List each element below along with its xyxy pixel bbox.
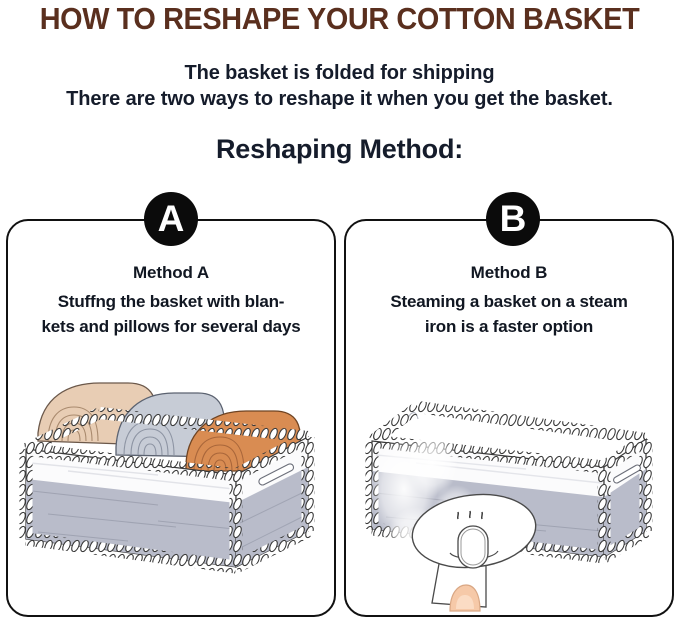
iron-button-inner [461,529,485,565]
section-title: Reshaping Method: [0,134,679,165]
subheading-line-1: The basket is folded for shipping [0,60,679,86]
method-a-description-line-1: Stuffng the basket with blan- [16,289,326,314]
method-b-description-line-1: Steaming a basket on a steam [354,289,664,314]
method-b-heading: Method B [346,263,672,283]
method-b-panel: Method B Steaming a basket on a steam ir… [344,219,674,617]
method-badge-b: B [486,192,540,246]
method-a-panel: Method A Stuffng the basket with blan- k… [6,219,336,617]
method-a-illustration [8,371,334,621]
method-a-description: Stuffng the basket with blan- kets and p… [16,289,326,339]
page-title: HOW TO RESHAPE YOUR COTTON BASKET [24,2,655,35]
method-a-description-line-2: kets and pillows for several days [16,314,326,339]
method-b-illustration [346,371,672,621]
method-b-description: Steaming a basket on a steam iron is a f… [354,289,664,339]
method-a-heading: Method A [8,263,334,283]
method-b-description-line-2: iron is a faster option [354,314,664,339]
subheading-line-2: There are two ways to reshape it when yo… [0,86,679,112]
method-badge-a: A [144,192,198,246]
